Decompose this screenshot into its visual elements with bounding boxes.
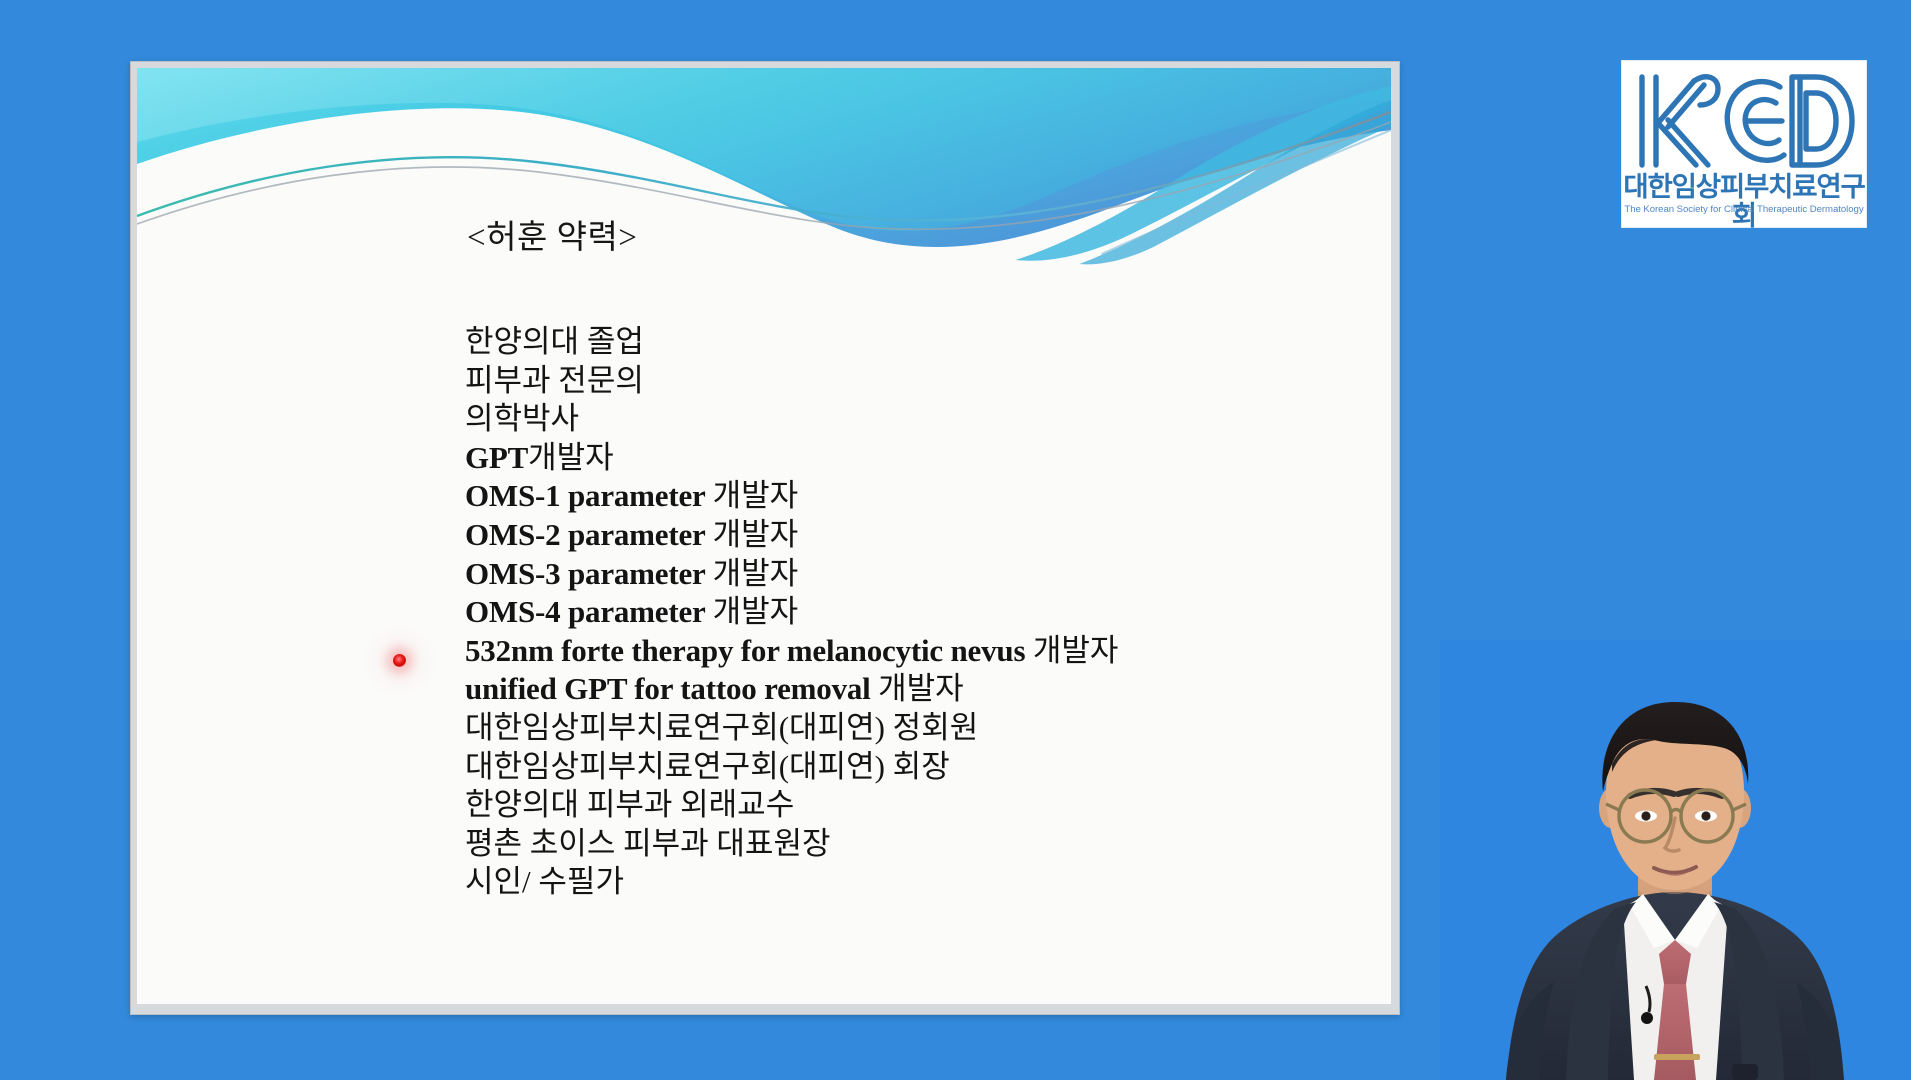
line-korean: 개발자 <box>713 478 799 513</box>
line-korean: 대한임상피부치료연구회(대피연) 정회원 <box>465 710 978 745</box>
list-item: GPT개발자 <box>465 439 1345 478</box>
presentation-stage: <허훈 약력> 한양의대 졸업 피부과 전문의 의학박사 GPT개발자 OMS-… <box>0 0 1911 1080</box>
line-korean: 개발자 <box>713 594 799 629</box>
slide-frame: <허훈 약력> 한양의대 졸업 피부과 전문의 의학박사 GPT개발자 OMS-… <box>130 61 1400 1015</box>
line-latin: GPT <box>465 440 528 475</box>
line-korean: 개발자 <box>878 671 964 706</box>
line-korean: 개발자 <box>713 556 799 591</box>
line-latin: OMS-2 parameter <box>465 517 713 552</box>
line-korean: 피부과 전문의 <box>465 363 644 398</box>
kcd-logo: 대한임상피부치료연구회 The Korean Society for Clini… <box>1622 61 1866 227</box>
list-item: unified GPT for tattoo removal 개발자 <box>465 670 1345 709</box>
line-latin: 532nm forte therapy for melanocytic nevu… <box>465 633 1033 668</box>
line-korean: 개발자 <box>1033 633 1119 668</box>
slide-canvas: <허훈 약력> 한양의대 졸업 피부과 전문의 의학박사 GPT개발자 OMS-… <box>137 68 1391 1004</box>
list-item: 의학박사 <box>465 400 1345 439</box>
slide-body-list: 한양의대 졸업 피부과 전문의 의학박사 GPT개발자 OMS-1 parame… <box>465 323 1345 902</box>
line-latin: OMS-3 parameter <box>465 556 713 591</box>
list-item: 평촌 초이스 피부과 대표원장 <box>465 825 1345 864</box>
line-korean: 개발자 <box>713 517 799 552</box>
line-latin: OMS-4 parameter <box>465 594 713 629</box>
line-korean: 시인/ 수필가 <box>465 864 624 899</box>
line-latin: unified GPT for tattoo removal <box>465 671 878 706</box>
line-latin: OMS-1 parameter <box>465 478 713 513</box>
list-item: OMS-2 parameter 개발자 <box>465 516 1345 555</box>
line-korean: 의학박사 <box>465 401 579 436</box>
slide-title: <허훈 약력> <box>467 210 637 258</box>
line-korean: 한양의대 졸업 <box>465 324 644 359</box>
line-korean: 대한임상피부치료연구회(대피연) 회장 <box>465 749 950 784</box>
line-korean: 개발자 <box>528 440 614 475</box>
list-item: 대한임상피부치료연구회(대피연) 정회원 <box>465 709 1345 748</box>
laser-pointer-dot <box>393 654 406 667</box>
slide-header-wave-decoration <box>137 68 1391 268</box>
kcd-subtitle: The Korean Society for Clinical Therapeu… <box>1622 204 1866 216</box>
list-item: 한양의대 피부과 외래교수 <box>465 786 1345 825</box>
list-item: 대한임상피부치료연구회(대피연) 회장 <box>465 748 1345 787</box>
list-item: 시인/ 수필가 <box>465 863 1345 902</box>
list-item: OMS-3 parameter 개발자 <box>465 555 1345 594</box>
list-item: OMS-4 parameter 개발자 <box>465 593 1345 632</box>
list-item: 한양의대 졸업 <box>465 323 1345 362</box>
line-korean: 평촌 초이스 피부과 대표원장 <box>465 826 831 861</box>
list-item: 532nm forte therapy for melanocytic nevu… <box>465 632 1345 671</box>
list-item: 피부과 전문의 <box>465 362 1345 401</box>
list-item: OMS-1 parameter 개발자 <box>465 477 1345 516</box>
kcd-monogram-icon <box>1630 65 1858 177</box>
presenter-video-feed[interactable]: presenter-video-feed <box>1440 640 1911 1080</box>
kcd-korean-name: 대한임상피부치료연구회 <box>1620 173 1869 231</box>
presenter-portrait <box>1440 640 1911 1080</box>
line-korean: 한양의대 피부과 외래교수 <box>465 787 794 822</box>
